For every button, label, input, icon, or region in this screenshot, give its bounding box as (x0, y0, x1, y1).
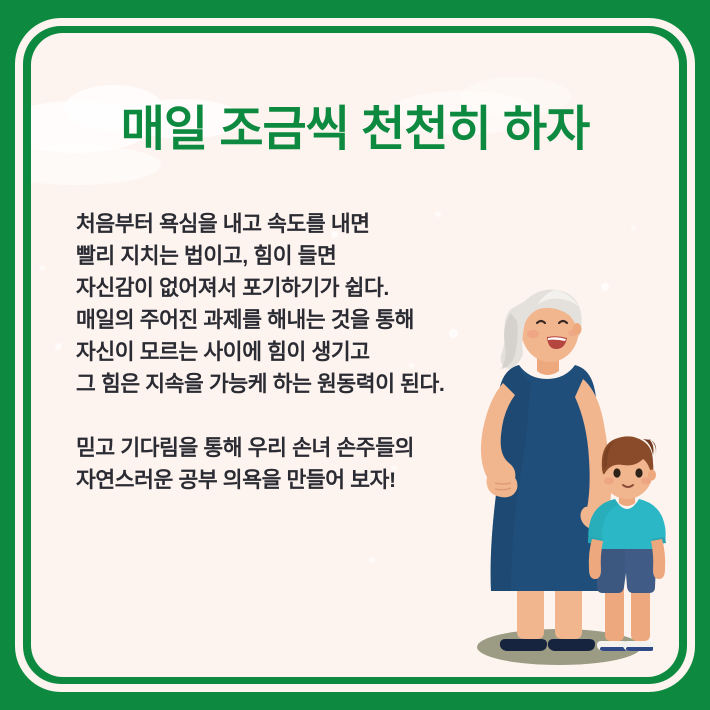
boy-legs (605, 587, 624, 641)
sparkle-icon (631, 225, 636, 230)
motivational-card: 매일 조금씩 천천히 하자 처음부터 욕심을 내고 속도를 내면빨리 지치는 법… (0, 0, 710, 710)
card-content-panel: 매일 조금씩 천천히 하자 처음부터 욕심을 내고 속도를 내면빨리 지치는 법… (31, 33, 679, 677)
boy-eye-left (613, 468, 620, 477)
page-title: 매일 조금씩 천천히 하자 (31, 105, 679, 155)
sparkle-icon (55, 343, 62, 350)
grandmother-shoe-left (500, 639, 547, 651)
sparkle-icon (369, 557, 375, 563)
grandmother-and-boy-illustration (455, 287, 679, 677)
boy-eye-right (635, 468, 642, 477)
sparkle-icon (39, 265, 45, 271)
grandmother-shoe-right (548, 639, 595, 651)
grandmother-legs (517, 587, 544, 639)
